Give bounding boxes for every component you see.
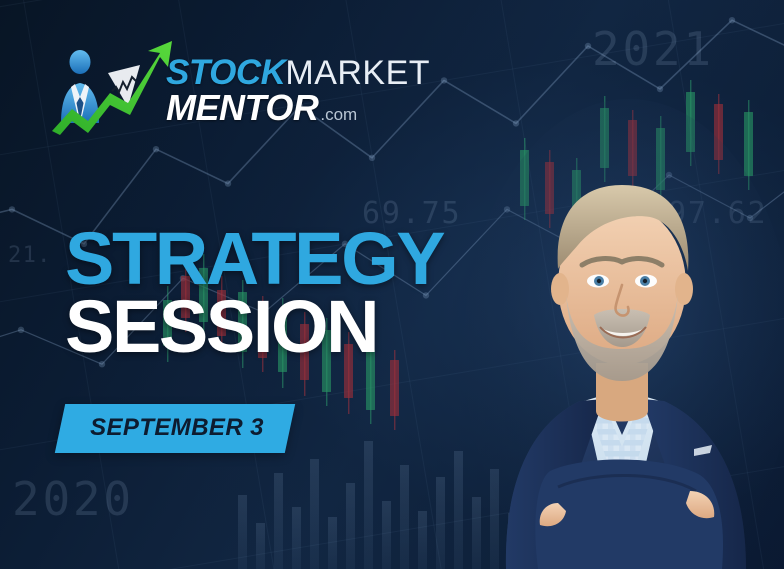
brand-mentor-text: MENTOR [166, 91, 318, 124]
headline-line-strategy: STRATEGY [65, 226, 443, 291]
background-price-label: 21. [8, 243, 52, 268]
brand-com-text: .com [320, 107, 357, 123]
brand-wordmark: STOCK MARKET MENTOR .com [166, 57, 381, 124]
brand-line-2: MENTOR .com [166, 91, 381, 124]
strategy-session-banner: 202169.7597.62202021. [0, 0, 784, 569]
brand-market-text: MARKET [285, 58, 430, 89]
background-price-label: 2020 [12, 472, 134, 526]
headline-line-session: SESSION [65, 294, 443, 359]
page-title: STRATEGY SESSION [65, 226, 443, 359]
brand-logo[interactable]: STOCK MARKET MENTOR .com [48, 33, 338, 138]
date-badge-label: SEPTEMBER 3 [90, 414, 264, 442]
stockmarketmentor-logo-icon [48, 35, 180, 135]
host-portrait [454, 99, 784, 569]
background-price-label: 2021 [592, 22, 714, 76]
brand-stock-text: STOCK [166, 57, 285, 89]
date-badge[interactable]: SEPTEMBER 3 [55, 404, 295, 453]
brand-line-1: STOCK MARKET [166, 57, 381, 89]
